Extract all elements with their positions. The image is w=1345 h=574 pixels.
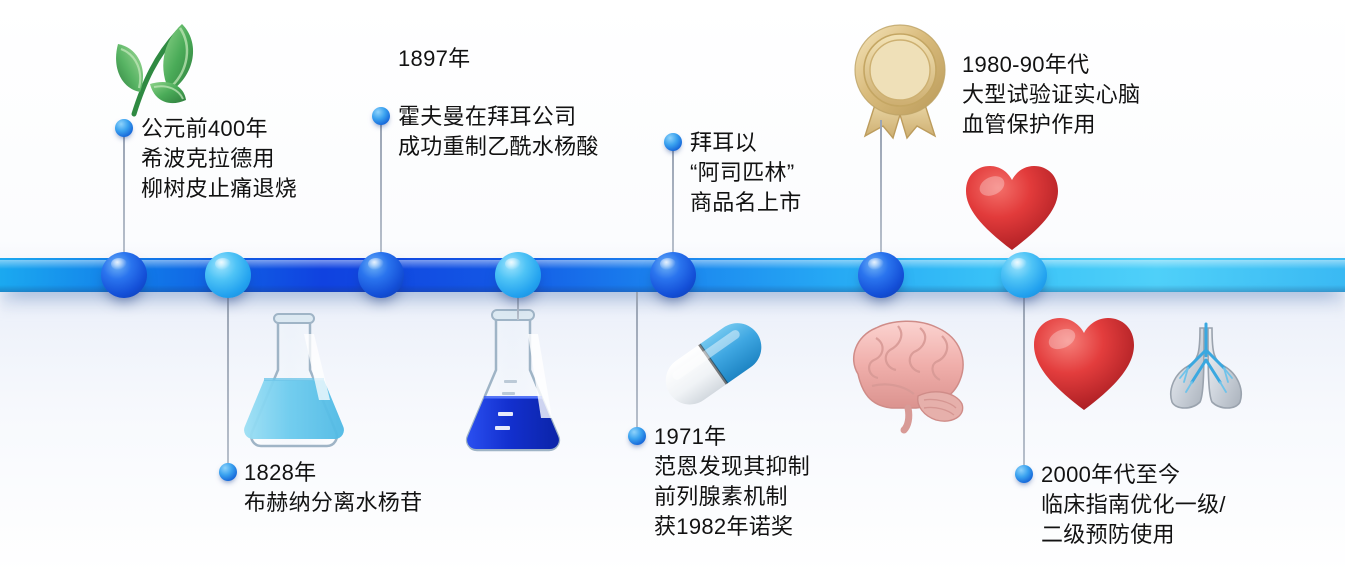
label-marker-dot[interactable] <box>372 107 390 125</box>
timeline-node-2[interactable] <box>205 252 251 298</box>
label-line: 血管保护作用 <box>962 110 1140 140</box>
label-line: 布赫纳分离水杨苷 <box>244 488 422 518</box>
label-line: 2000年代至今 <box>1041 460 1226 490</box>
connector-stem <box>636 292 638 436</box>
label-line: 成功重制乙酰水杨酸 <box>398 132 599 162</box>
label-line: 柳树皮止痛退烧 <box>141 174 297 204</box>
timeline-node-7[interactable] <box>1001 252 1047 298</box>
connector-stem <box>1023 292 1025 474</box>
label-marker-dot[interactable] <box>628 427 646 445</box>
timeline-node-1[interactable] <box>101 252 147 298</box>
timeline-node-4[interactable] <box>495 252 541 298</box>
label-line: 1971年 <box>654 422 810 452</box>
event-label-1971: 1971年 范恩发现其抑制 前列腺素机制 获1982年诺奖 <box>654 422 810 542</box>
label-line: 前列腺素机制 <box>654 482 810 512</box>
label-line: 范恩发现其抑制 <box>654 452 810 482</box>
label-marker-dot[interactable] <box>219 463 237 481</box>
label-line: 大型试验证实心脑 <box>962 80 1140 110</box>
label-line: “阿司匹林” <box>690 158 802 188</box>
label-line: 霍夫曼在拜耳公司 <box>398 102 599 132</box>
label-line: 拜耳以 <box>690 128 802 158</box>
award-ribbon-icon <box>843 12 957 142</box>
label-line: 二级预防使用 <box>1041 520 1226 550</box>
flask-light-blue-icon <box>238 312 350 454</box>
heart-icon <box>1030 314 1138 414</box>
connector-stem <box>227 292 229 472</box>
event-label-aspirin-brand: 拜耳以 “阿司匹林” 商品名上市 <box>690 128 802 218</box>
heart-icon <box>962 162 1062 254</box>
event-label-400bc: 公元前400年 希波克拉德用 柳树皮止痛退烧 <box>141 114 297 204</box>
timeline-infographic: 公元前400年 希波克拉德用 柳树皮止痛退烧 1828年 布赫纳分离水杨苷 18… <box>0 0 1345 574</box>
label-marker-dot[interactable] <box>115 119 133 137</box>
lungs-icon <box>1158 316 1254 412</box>
label-line: 1897年 <box>398 44 470 74</box>
brain-icon <box>842 312 974 430</box>
event-label-1828: 1828年 布赫纳分离水杨苷 <box>244 458 422 518</box>
timeline-node-3[interactable] <box>358 252 404 298</box>
event-label-1897: 霍夫曼在拜耳公司 成功重制乙酰水杨酸 <box>398 102 599 162</box>
connector-stem <box>380 116 382 260</box>
event-label-2000s: 2000年代至今 临床指南优化一级/ 二级预防使用 <box>1041 460 1226 550</box>
label-line: 1980-90年代 <box>962 50 1140 80</box>
event-label-1980-90: 1980-90年代 大型试验证实心脑 血管保护作用 <box>962 50 1140 140</box>
timeline-node-5[interactable] <box>650 252 696 298</box>
flask-deep-blue-icon <box>452 306 574 458</box>
leaf-icon <box>104 12 212 118</box>
label-line: 公元前400年 <box>141 114 297 144</box>
timeline-node-6[interactable] <box>858 252 904 298</box>
label-line: 获1982年诺奖 <box>654 512 810 542</box>
connector-stem <box>672 142 674 260</box>
capsule-icon <box>652 302 774 424</box>
event-label-1897-year: 1897年 <box>398 44 470 74</box>
label-line: 希波克拉德用 <box>141 144 297 174</box>
connector-stem <box>880 120 882 260</box>
label-line: 商品名上市 <box>690 188 802 218</box>
connector-stem <box>123 128 125 260</box>
label-marker-dot[interactable] <box>664 133 682 151</box>
label-marker-dot[interactable] <box>1015 465 1033 483</box>
label-line: 1828年 <box>244 458 422 488</box>
label-line: 临床指南优化一级/ <box>1041 490 1226 520</box>
